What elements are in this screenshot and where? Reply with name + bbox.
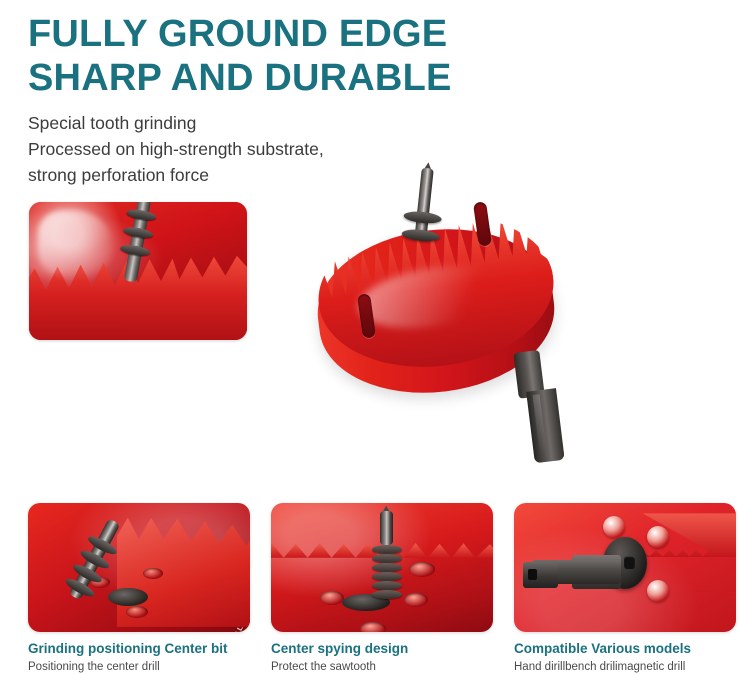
- drill-spring-coil: [372, 545, 402, 554]
- screw-head: [603, 516, 625, 538]
- chip-hole: [360, 622, 386, 632]
- drill-mount-hub: [108, 588, 148, 606]
- drill-spring-coil: [372, 572, 402, 581]
- chip-hole: [143, 568, 163, 579]
- feature-subtitle-2: Protect the sawtooth: [271, 660, 501, 674]
- page-title-line-2: SHARP AND DURABLE: [28, 56, 728, 100]
- feature-card-grinding-positioning[interactable]: H S S BI-METAL Grinding positioning Cent…: [28, 503, 258, 674]
- drill-spring-coil: [372, 590, 402, 599]
- feature-card-center-spying[interactable]: Center spying design Protect the sawtoot…: [271, 503, 501, 674]
- feature-title-3: Compatible Various models: [514, 641, 744, 657]
- feature-thumbnail-2: [271, 503, 493, 632]
- drill-collar: [401, 228, 440, 243]
- page-title-line-1: FULLY GROUND EDGE: [28, 12, 728, 56]
- drill-spring-coil: [372, 563, 402, 572]
- feature-title-2: Center spying design: [271, 641, 501, 657]
- drill-spring-coil: [372, 554, 402, 563]
- page-header: FULLY GROUND EDGE SHARP AND DURABLE Spec…: [28, 12, 728, 188]
- hero-section: [0, 186, 750, 486]
- drill-collar: [403, 210, 442, 225]
- feature-card-compatible-models[interactable]: Compatible Various models Hand dirillben…: [514, 503, 744, 674]
- subtitle-line-2: Processed on high-strength substrate,: [28, 136, 728, 162]
- feature-title-1: Grinding positioning Center bit: [28, 641, 258, 657]
- sawtooth-closeup-image: [29, 202, 247, 340]
- hex-shank-arbor: [507, 347, 576, 465]
- drill-spring-coil: [372, 581, 402, 590]
- drill-shaft: [380, 511, 393, 545]
- center-pilot-drill: [369, 511, 403, 609]
- inset-highlight: [38, 210, 112, 276]
- feature-subtitle-1: Positioning the center drill: [28, 660, 258, 674]
- subtitle-line-1: Special tooth grinding: [28, 110, 728, 136]
- chip-hole: [320, 591, 344, 605]
- feature-thumbnail-1: H S S BI-METAL: [28, 503, 250, 632]
- drill-shaft: [415, 168, 434, 239]
- feature-thumbnail-3: [514, 503, 736, 632]
- shank-hex-end: [526, 388, 565, 463]
- hex-shank-end: [523, 562, 559, 588]
- chip-hole: [126, 606, 148, 618]
- feature-subtitle-3: Hand dirillbench drilimagnetic drill: [514, 660, 744, 674]
- hole-saw-product-image: [300, 172, 630, 482]
